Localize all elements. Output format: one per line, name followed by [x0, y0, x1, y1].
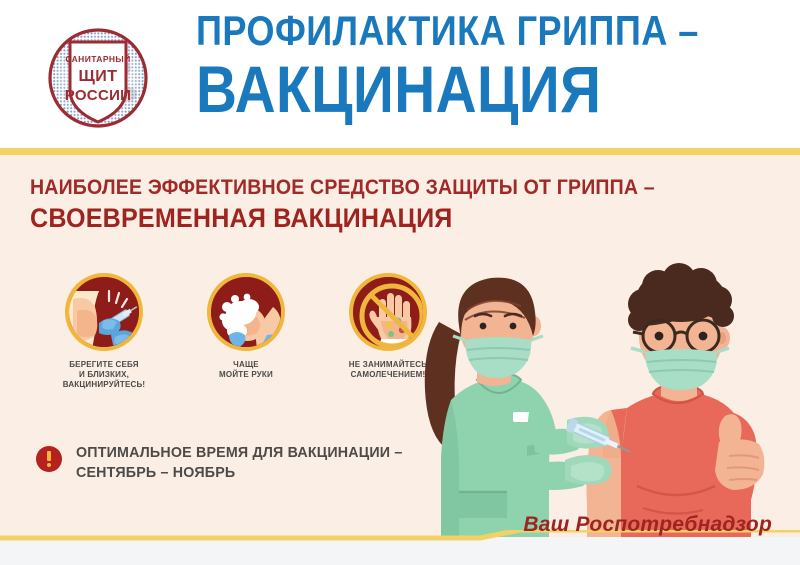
logo-line-1: САНИТАРНЫЙ	[65, 53, 130, 64]
patient-figure	[587, 263, 765, 537]
subtitle-block: НАИБОЛЕЕ ЭФФЕКТИВНОЕ СРЕДСТВО ЗАЩИТЫ ОТ …	[30, 175, 770, 235]
exclamation-circle-icon	[36, 446, 62, 472]
advice-caption-handwashing: ЧАЩЕ МОЙТЕ РУКИ	[182, 360, 310, 380]
title-line-1: ПРОФИЛАКТИКА ГРИППА –	[196, 8, 709, 54]
poster-header: САНИТАРНЫЙ ЩИТ РОССИИ ПРОФИЛАКТИКА ГРИПП…	[0, 0, 800, 148]
caption-line-2: И БЛИЗКИХ,	[40, 370, 168, 380]
caption-line-2: МОЙТЕ РУКИ	[182, 370, 310, 380]
nurse-vaccinating-patient-illustration	[415, 260, 800, 537]
subtitle-line-2: СВОЕВРЕМЕННАЯ ВАКЦИНАЦИЯ	[30, 201, 718, 235]
caption-line-1: БЕРЕГИТЕ СЕБЯ	[40, 360, 168, 370]
advice-icon-row: БЕРЕГИТЕ СЕБЯ И БЛИЗКИХ, ВАКЦИНИРУЙТЕСЬ!	[40, 273, 452, 390]
advice-caption-vaccination: БЕРЕГИТЕ СЕБЯ И БЛИЗКИХ, ВАКЦИНИРУЙТЕСЬ!	[40, 360, 168, 390]
thumbs-up-hand	[715, 414, 764, 490]
subtitle-line-1: НАИБОЛЕЕ ЭФФЕКТИВНОЕ СРЕДСТВО ЗАЩИТЫ ОТ …	[30, 175, 718, 201]
footer-brand-text: Ваш Роспотребнадзор	[523, 513, 772, 537]
logo-line-3: РОССИИ	[65, 87, 132, 104]
optimal-time-note-text: ОПТИМАЛЬНОЕ ВРЕМЯ ДЛЯ ВАКЦИНАЦИИ – СЕНТЯ…	[76, 443, 402, 483]
poster-title: ПРОФИЛАКТИКА ГРИППА – ВАКЦИНАЦИЯ	[196, 8, 792, 124]
advice-item-vaccination: БЕРЕГИТЕ СЕБЯ И БЛИЗКИХ, ВАКЦИНИРУЙТЕСЬ!	[40, 273, 168, 390]
handwashing-soap-icon	[207, 273, 285, 351]
title-line-2: ВАКЦИНАЦИЯ	[196, 54, 709, 124]
logo-line-2: ЩИТ	[78, 68, 117, 85]
sanitary-shield-russia-logo: САНИТАРНЫЙ ЩИТ РОССИИ	[36, 22, 160, 134]
note-line-1: ОПТИМАЛЬНОЕ ВРЕМЯ ДЛЯ ВАКЦИНАЦИИ –	[76, 443, 402, 463]
caption-line-3: ВАКЦИНИРУЙТЕСЬ!	[40, 380, 168, 390]
note-line-2: СЕНТЯБРЬ – НОЯБРЬ	[76, 463, 402, 483]
caption-line-1: ЧАЩЕ	[182, 360, 310, 370]
header-divider-rule	[0, 148, 800, 155]
poster-root: САНИТАРНЫЙ ЩИТ РОССИИ ПРОФИЛАКТИКА ГРИПП…	[0, 0, 800, 565]
optimal-time-note: ОПТИМАЛЬНОЕ ВРЕМЯ ДЛЯ ВАКЦИНАЦИИ – СЕНТЯ…	[36, 443, 420, 483]
advice-item-handwashing: ЧАЩЕ МОЙТЕ РУКИ	[182, 273, 310, 390]
syringe-vaccination-icon	[65, 273, 143, 351]
poster-body: НАИБОЛЕЕ ЭФФЕКТИВНОЕ СРЕДСТВО ЗАЩИТЫ ОТ …	[0, 155, 800, 537]
